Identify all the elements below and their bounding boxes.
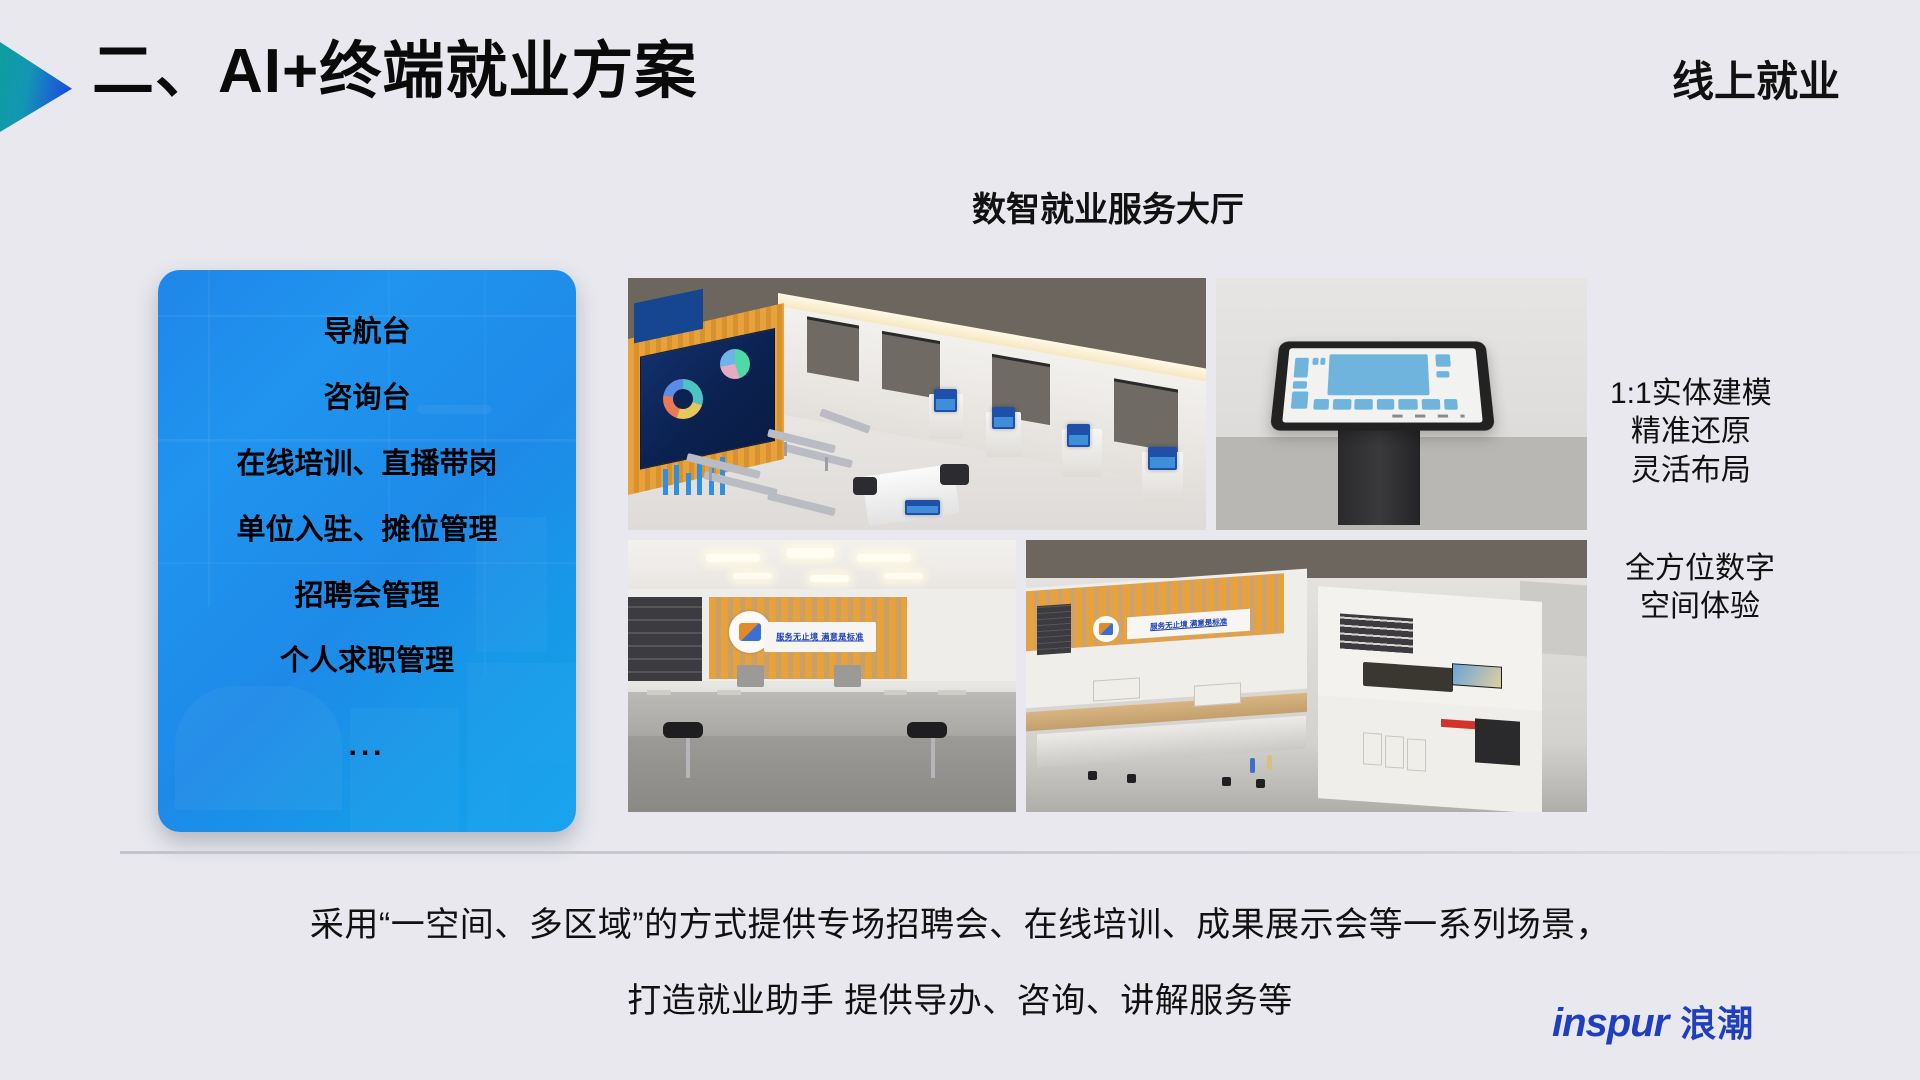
brand-logo-en: inspur <box>1552 1001 1668 1046</box>
slide-root: 二、AI+终端就业方案 线上就业 数智就业服务大厅 导航台 咨询台 在线培训、直… <box>0 0 1920 1080</box>
note-line: 精准还原 <box>1610 413 1772 451</box>
feature-card-list: 导航台 咨询台 在线培训、直播带岗 单位入驻、摊位管理 招聘会管理 个人求职管理… <box>158 270 576 832</box>
list-item[interactable]: 单位入驻、摊位管理 <box>230 498 503 564</box>
list-item[interactable]: 招聘会管理 <box>288 564 445 630</box>
page-title: 二、AI+终端就业方案 <box>92 36 697 107</box>
list-item[interactable]: 个人求职管理 <box>274 629 460 695</box>
note-line: 1:1实体建模 <box>1610 375 1772 413</box>
section-subtitle: 数智就业服务大厅 <box>628 182 1588 231</box>
section-divider <box>120 851 1920 854</box>
brand-logo-cn: 浪潮 <box>1680 995 1754 1047</box>
note-line: 空间体验 <box>1625 588 1775 626</box>
note-modeling: 1:1实体建模 精准还原 灵活布局 <box>1610 375 1772 490</box>
list-item[interactable]: 咨询台 <box>317 366 416 432</box>
header-right-label: 线上就业 <box>1672 48 1840 109</box>
note-line: 灵活布局 <box>1610 452 1772 490</box>
banner-text: 服务无止境 满意是标准 <box>1127 614 1250 634</box>
list-item[interactable]: 导航台 <box>317 300 416 366</box>
note-digital-space: 全方位数字 空间体验 <box>1625 550 1775 627</box>
banner-text: 服务无止境 满意是标准 <box>764 631 877 642</box>
feature-card: 导航台 咨询台 在线培训、直播带岗 单位入驻、摊位管理 招聘会管理 个人求职管理… <box>158 270 576 832</box>
list-item[interactable]: 在线培训、直播带岗 <box>230 432 503 498</box>
list-item-more: ... <box>342 695 391 779</box>
note-line: 全方位数字 <box>1625 550 1775 588</box>
gallery-image-reception-counter: 服务无止境 满意是标准 <box>628 540 1016 812</box>
brand-logo: inspur 浪潮 <box>1552 995 1754 1047</box>
caption-line-1: 采用“一空间、多区域”的方式提供专场招聘会、在线培训、成果展示会等一系列场景， <box>0 897 1920 946</box>
gallery-image-hall-cutaway: 服务无止境 满意是标准 <box>1026 540 1587 812</box>
render-gallery: 服务无止境 满意是标准 <box>628 278 1587 812</box>
gallery-image-touch-kiosk <box>1216 278 1587 530</box>
header-chevron-icon <box>0 42 72 132</box>
gallery-image-hall-overview <box>628 278 1206 530</box>
